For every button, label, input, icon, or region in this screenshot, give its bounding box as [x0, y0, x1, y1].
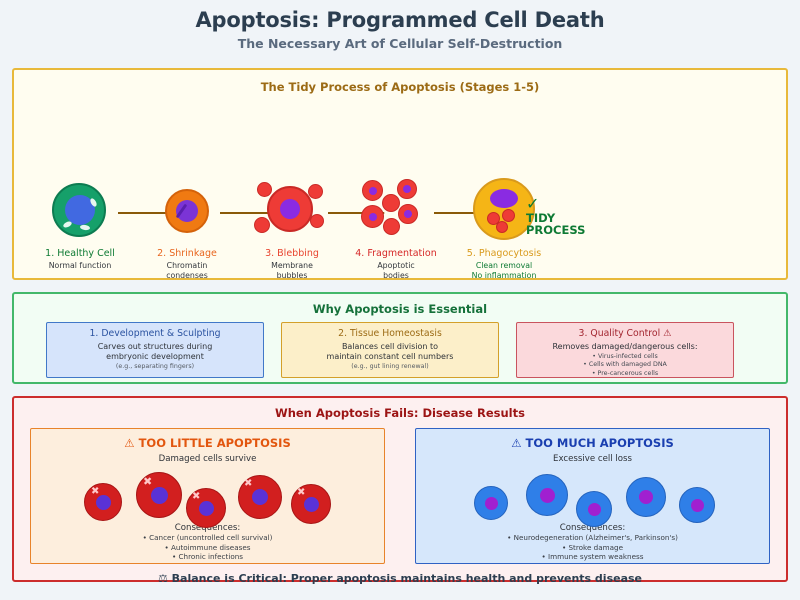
damage-marker-icon: ✖ [297, 487, 305, 498]
card-body: Carves out structures during embryonic d… [47, 342, 263, 363]
healthy-cell-art [20, 178, 140, 240]
essential-card-development: 1. Development & Sculpting Carves out st… [46, 322, 264, 378]
list-item: • Pre-cancerous cells [517, 370, 733, 378]
card-title: 3. Quality Control ⚠ [517, 328, 733, 340]
stage-desc: Chromatin condenses [127, 261, 247, 280]
stage-label: 3. Blebbing [232, 248, 352, 259]
stage-desc-line1: Membrane [271, 261, 313, 270]
dying-cell-nucleus [691, 499, 704, 512]
stage-desc: Clean removal No inflammation [444, 261, 564, 280]
damage-marker-icon: ✖ [143, 475, 152, 488]
stage-desc-line1: Normal function [49, 261, 112, 270]
damaged-cell-nucleus [199, 501, 214, 516]
process-panel: The Tidy Process of Apoptosis (Stages 1-… [12, 68, 788, 280]
card-body: Balances cell division to maintain const… [282, 342, 498, 363]
card-body-line2: maintain constant cell numbers [327, 352, 454, 361]
card-note: (e.g., gut lining renewal) [282, 363, 498, 372]
stage-desc-line1: Apoptotic [377, 261, 414, 270]
apoptotic-body [383, 218, 400, 235]
damage-marker-icon: ✖ [192, 491, 200, 502]
phagocyte-nucleus [490, 189, 518, 208]
box-subtitle: Damaged cells survive [31, 454, 384, 464]
box-title: ⚠ TOO MUCH APOPTOSIS [416, 436, 769, 450]
essential-card-quality-control: 3. Quality Control ⚠ Removes damaged/dan… [516, 322, 734, 378]
too-little-apoptosis-box: ⚠ TOO LITTLE APOPTOSIS Damaged cells sur… [30, 428, 385, 564]
card-body: Removes damaged/dangerous cells: [517, 342, 733, 352]
list-item: • Neurodegeneration (Alzheimer's, Parkin… [416, 533, 769, 543]
list-item: • Stroke damage [416, 543, 769, 553]
engulfed-body [496, 221, 508, 233]
stage-label: 5. Phagocytosis [444, 248, 564, 259]
stage-desc: Apoptotic bodies [336, 261, 456, 280]
apoptotic-body-nucleus [403, 185, 411, 193]
apoptotic-body [382, 194, 400, 212]
stage-desc-line2: bubbles [232, 271, 352, 281]
cell-nucleus [280, 199, 300, 219]
too-much-apoptosis-box: ⚠ TOO MUCH APOPTOSIS Excessive cell loss… [415, 428, 770, 564]
list-item: • Cancer (uncontrolled cell survival) [31, 533, 384, 543]
list-item: • Immune system weakness [416, 552, 769, 562]
stage-desc-line1: Clean removal [476, 261, 532, 270]
page-title: Apoptosis: Programmed Cell Death [0, 8, 800, 32]
box-title: ⚠ TOO LITTLE APOPTOSIS [31, 436, 384, 450]
engulfed-body [502, 209, 515, 222]
card-note: (e.g., separating fingers) [47, 363, 263, 372]
stage-healthy-cell: 1. Healthy Cell Normal function [20, 178, 140, 271]
apoptotic-body-nucleus [369, 213, 377, 221]
page-subtitle: The Necessary Art of Cellular Self-Destr… [0, 36, 800, 51]
process-panel-title: The Tidy Process of Apoptosis (Stages 1-… [14, 80, 786, 94]
damage-marker-icon: ✖ [91, 486, 99, 497]
stage-fragmentation: 4. Fragmentation Apoptotic bodies [336, 178, 456, 280]
stage-desc-line2: No inflammation [444, 271, 564, 281]
stage-desc-line1: Chromatin [167, 261, 208, 270]
card-body-line1: Balances cell division to [342, 342, 438, 351]
damaged-cell-nucleus [252, 489, 268, 505]
dying-cell-nucleus [485, 497, 498, 510]
card-list: • Virus-infected cells • Cells with dama… [517, 353, 733, 378]
damaged-cell-nucleus [96, 495, 111, 510]
consequences-list: • Neurodegeneration (Alzheimer's, Parkin… [416, 533, 769, 562]
damaged-cell-row: ✖ ✖ ✖ ✖ ✖ [31, 466, 384, 522]
list-item: • Virus-infected cells [517, 353, 733, 361]
stage-label: 4. Fragmentation [336, 248, 456, 259]
stage-desc-line2: bodies [336, 271, 456, 281]
check-icon: ✓ [526, 196, 616, 212]
essential-panel-title: Why Apoptosis is Essential [14, 302, 786, 316]
disease-panel-title: When Apoptosis Fails: Disease Results [14, 406, 786, 420]
bleb [254, 217, 270, 233]
tidy-badge-line2: PROCESS [526, 224, 616, 236]
card-title: 1. Development & Sculpting [47, 328, 263, 340]
healthy-cell-row [416, 466, 769, 522]
essential-card-homeostasis: 2. Tissue Homeostasis Balances cell divi… [281, 322, 499, 378]
dying-cell-nucleus [588, 503, 601, 516]
damaged-cell-nucleus [151, 487, 168, 504]
stage-desc: Membrane bubbles [232, 261, 352, 280]
stage-blebbing: 3. Blebbing Membrane bubbles [232, 178, 352, 280]
stage-desc: Normal function [20, 261, 140, 271]
card-title: 2. Tissue Homeostasis [282, 328, 498, 340]
infographic-page: Apoptosis: Programmed Cell Death The Nec… [0, 0, 800, 600]
dying-cell-nucleus [540, 488, 555, 503]
apoptotic-body-nucleus [404, 210, 412, 218]
consequences-list: • Cancer (uncontrolled cell survival) • … [31, 533, 384, 562]
stage-shrinkage: 2. Shrinkage Chromatin condenses [127, 178, 247, 280]
shrinkage-cell-art [127, 178, 247, 240]
bleb [308, 184, 323, 199]
list-item: • Cells with damaged DNA [517, 361, 733, 369]
card-body-line2: embryonic development [106, 352, 204, 361]
box-subtitle: Excessive cell loss [416, 454, 769, 464]
stage-label: 1. Healthy Cell [20, 248, 140, 259]
tidy-process-badge: ✓ TIDY PROCESS [526, 196, 616, 237]
damaged-cell-nucleus [304, 497, 319, 512]
stage-desc-line2: condenses [127, 271, 247, 281]
list-item: • Autoimmune diseases [31, 543, 384, 553]
list-item: • Chronic infections [31, 552, 384, 562]
card-body-line1: Carves out structures during [98, 342, 213, 351]
damage-marker-icon: ✖ [244, 478, 252, 489]
apoptotic-body-nucleus [369, 187, 377, 195]
footer-note: ⚖ Balance is Critical: Proper apoptosis … [0, 572, 800, 585]
bleb [257, 182, 272, 197]
fragmentation-art [336, 178, 456, 240]
stage-label: 2. Shrinkage [127, 248, 247, 259]
bleb [310, 214, 324, 228]
blebbing-cell-art [232, 178, 352, 240]
dying-cell-nucleus [639, 490, 653, 504]
